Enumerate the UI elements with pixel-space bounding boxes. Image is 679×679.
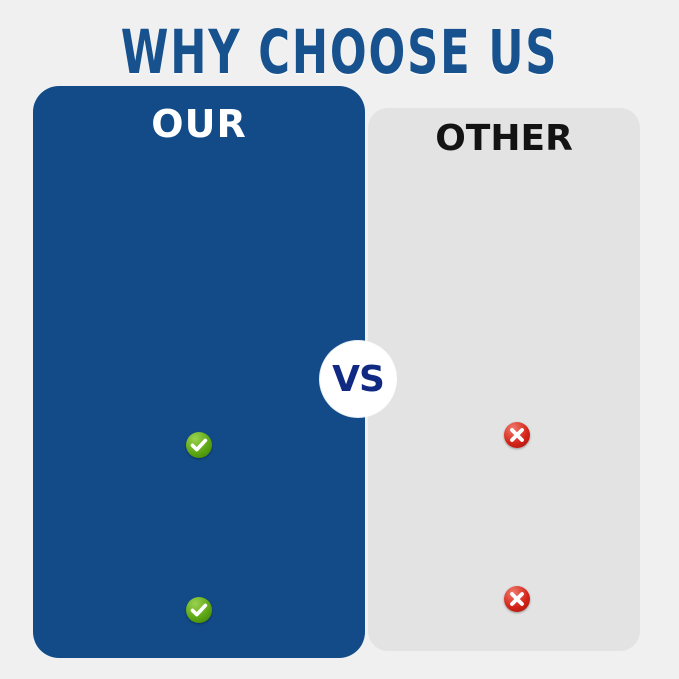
check-icon	[186, 432, 212, 458]
page-title: WHY CHOOSE US	[27, 18, 652, 88]
vs-label: VS	[332, 359, 384, 400]
our-panel: OUR	[33, 86, 365, 658]
other-panel-heading: OTHER	[368, 118, 640, 159]
cross-icon	[504, 422, 530, 448]
other-panel: OTHER	[368, 108, 640, 651]
check-icon	[186, 597, 212, 623]
cross-icon	[504, 586, 530, 612]
vs-badge: VS	[320, 341, 396, 417]
our-panel-heading: OUR	[33, 102, 365, 146]
